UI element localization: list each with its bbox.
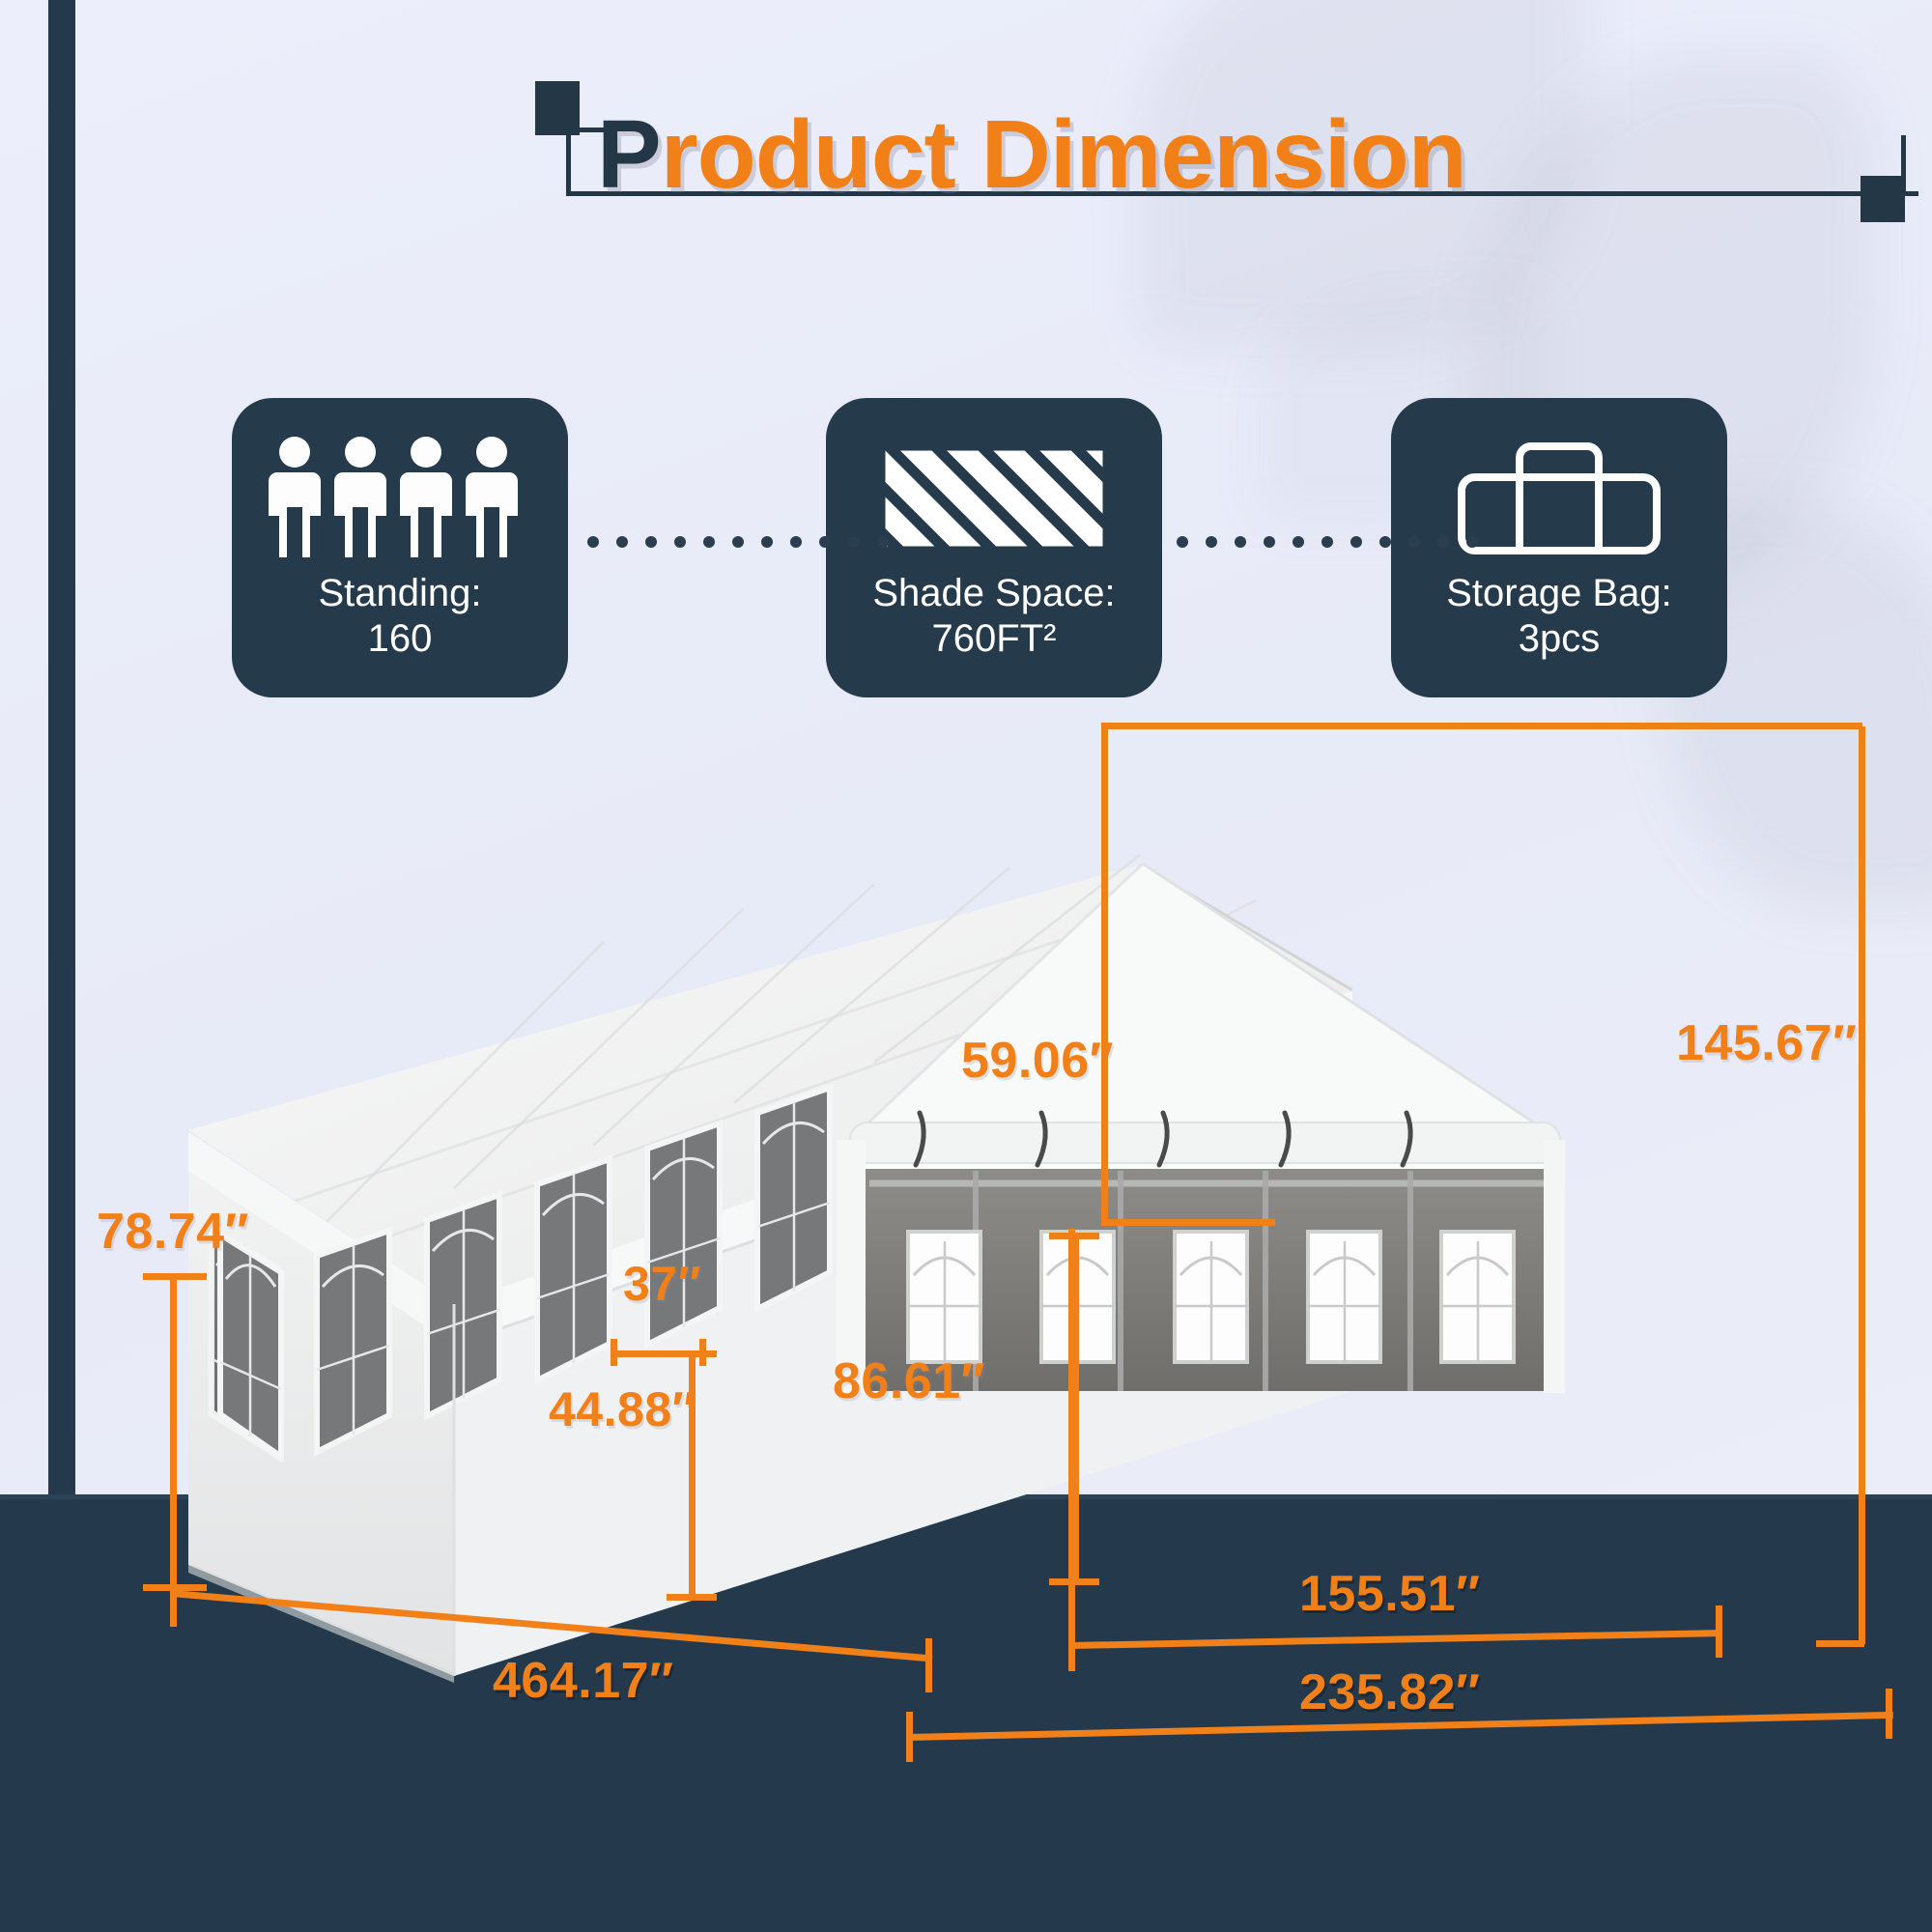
dim-total-height-cap-top <box>1379 723 1862 729</box>
feature-badge-shade-space[interactable]: Shade Space: 760FT² <box>826 398 1162 697</box>
dim-total-height: 145.67″ <box>1676 1014 1857 1072</box>
dim-eave-opening-height: 86.61″ <box>833 1352 985 1410</box>
page-title: Product Dimension <box>597 106 1466 203</box>
badge-connector-dots-right <box>1177 536 1478 548</box>
page-title-rest: roduct Dimension <box>661 100 1466 209</box>
feature-badge-storage-bag[interactable]: Storage Bag: 3pcs <box>1391 398 1727 697</box>
dim-total-height-line <box>1859 726 1865 1644</box>
dim-window-width-cap-left <box>611 1339 617 1366</box>
storage-bag-icon <box>1448 433 1670 563</box>
standing-people-icon <box>265 433 535 563</box>
title-bracket-square-right <box>1861 176 1905 222</box>
feature-badge-shade-space-label: Shade Space: <box>872 571 1115 616</box>
badge-connector-dots-left <box>587 536 889 548</box>
dim-total-height-cap-bottom <box>1816 1640 1864 1647</box>
feature-badge-standing[interactable]: Standing: 160 <box>232 398 568 697</box>
dim-side-wall-height-cap-top <box>143 1273 207 1280</box>
dim-gable-peak-rise: 59.06″ <box>961 1032 1114 1090</box>
dim-side-wall-height: 78.74″ <box>97 1203 249 1261</box>
dim-overall-length-cap-right <box>925 1638 932 1692</box>
feature-badge-standing-value: 160 <box>368 616 433 662</box>
dim-side-wall-height-line <box>170 1275 177 1589</box>
feature-badge-row: Standing: 160 Shade Space: 760FT² <box>0 398 1932 717</box>
dim-bay-left-guide-long <box>1068 1229 1075 1627</box>
dim-gable-peak-rise-line <box>1101 723 1381 729</box>
dim-overall-width-cap-left <box>906 1712 913 1762</box>
dim-gable-peak-rise-vertical <box>1101 723 1108 1225</box>
dim-window-height: 44.88″ <box>549 1381 696 1437</box>
dim-gable-peak-rise-cap-bottom <box>1101 1219 1275 1226</box>
dim-overall-width-cap-right <box>1886 1689 1892 1739</box>
feature-badge-storage-bag-value: 3pcs <box>1519 616 1601 662</box>
feature-badge-standing-label: Standing: <box>318 571 481 616</box>
page-title-block: Product Dimension <box>522 60 1893 214</box>
dim-overall-length: 464.17″ <box>493 1652 673 1710</box>
dim-inner-width: 155.51″ <box>1299 1565 1480 1623</box>
page-title-initial: P <box>597 100 661 209</box>
dim-window-height-cap-top <box>667 1350 717 1357</box>
feature-badge-shade-space-value: 760FT² <box>932 616 1057 662</box>
dim-inner-width-cap-left <box>1068 1619 1075 1671</box>
dim-window-width: 37″ <box>623 1256 701 1312</box>
title-bracket-vertical-left <box>566 128 571 195</box>
dim-window-height-cap-bottom <box>667 1594 717 1601</box>
dim-overall-width: 235.82″ <box>1299 1663 1480 1721</box>
shade-area-hatched-icon <box>876 433 1112 563</box>
tent-illustration <box>0 850 1932 1719</box>
dim-overall-length-cap-left <box>170 1573 177 1627</box>
dim-window-height-line <box>689 1352 696 1599</box>
infographic-canvas: Product Dimension <box>0 0 1932 1932</box>
feature-badge-storage-bag-label: Storage Bag: <box>1446 571 1672 616</box>
dim-inner-width-cap-right <box>1716 1605 1722 1658</box>
